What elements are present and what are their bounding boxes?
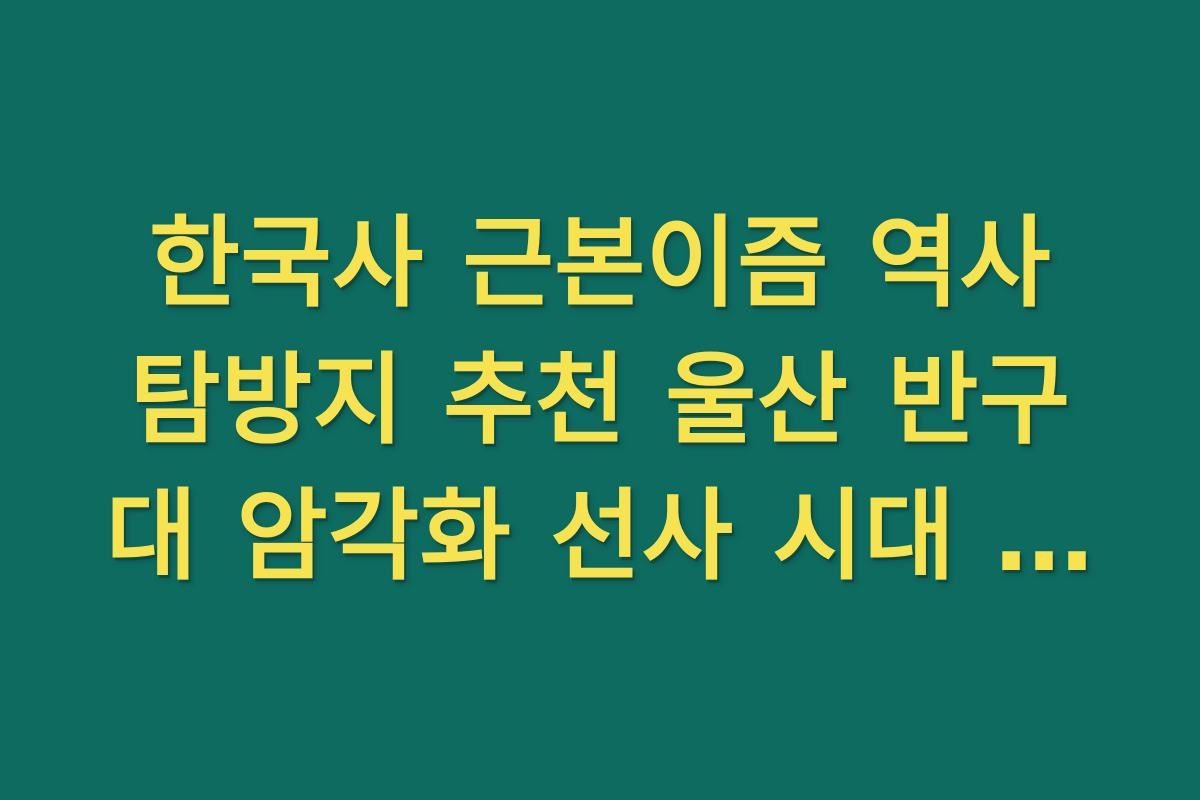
text-card: 한국사 근본이즘 역사 탐방지 추천 울산 반구대 암각화 선사 시대 … (0, 0, 1200, 800)
headline-container: 한국사 근본이즘 역사 탐방지 추천 울산 반구대 암각화 선사 시대 … (0, 196, 1200, 606)
page-title: 한국사 근본이즘 역사 탐방지 추천 울산 반구대 암각화 선사 시대 … (100, 196, 1100, 606)
